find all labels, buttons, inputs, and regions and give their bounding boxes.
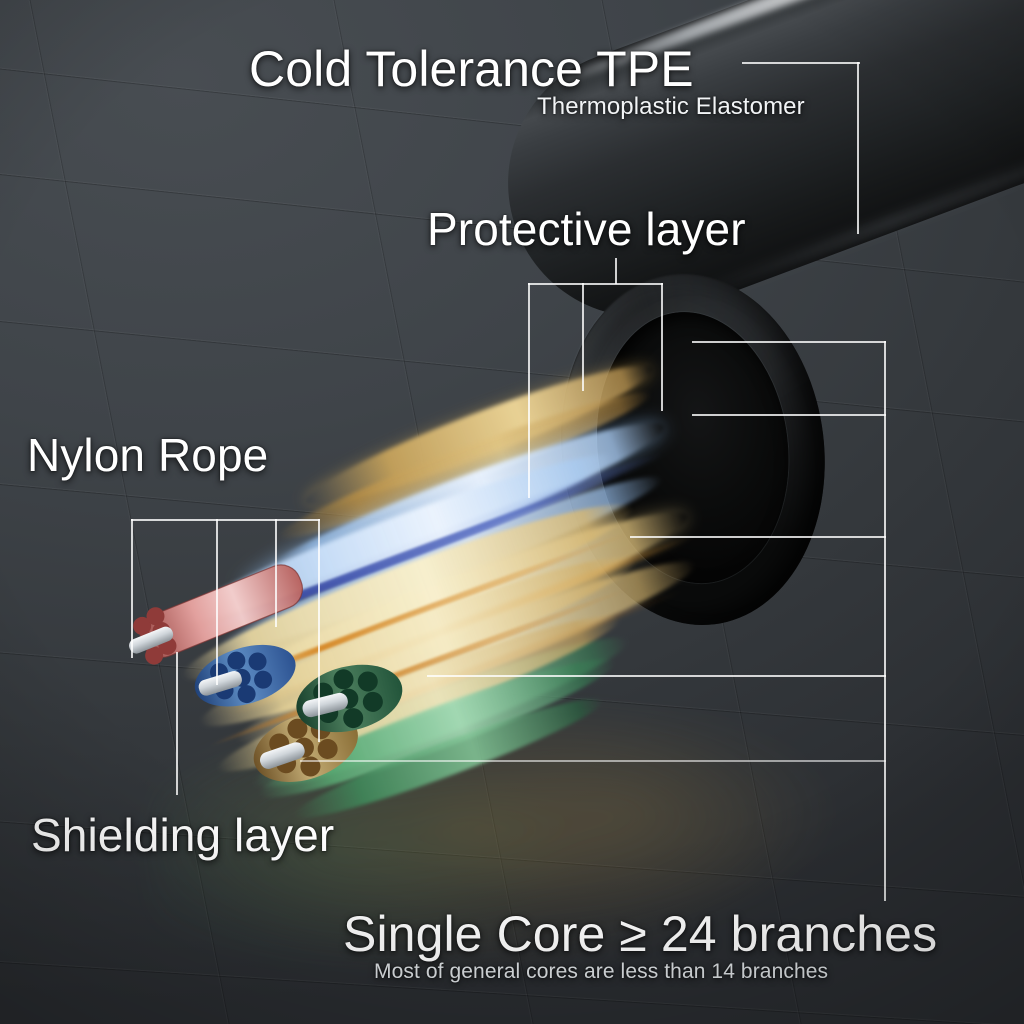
vignette-overlay (0, 0, 1024, 1024)
infographic-canvas: Cold Tolerance TPE Thermoplastic Elastom… (0, 0, 1024, 1024)
